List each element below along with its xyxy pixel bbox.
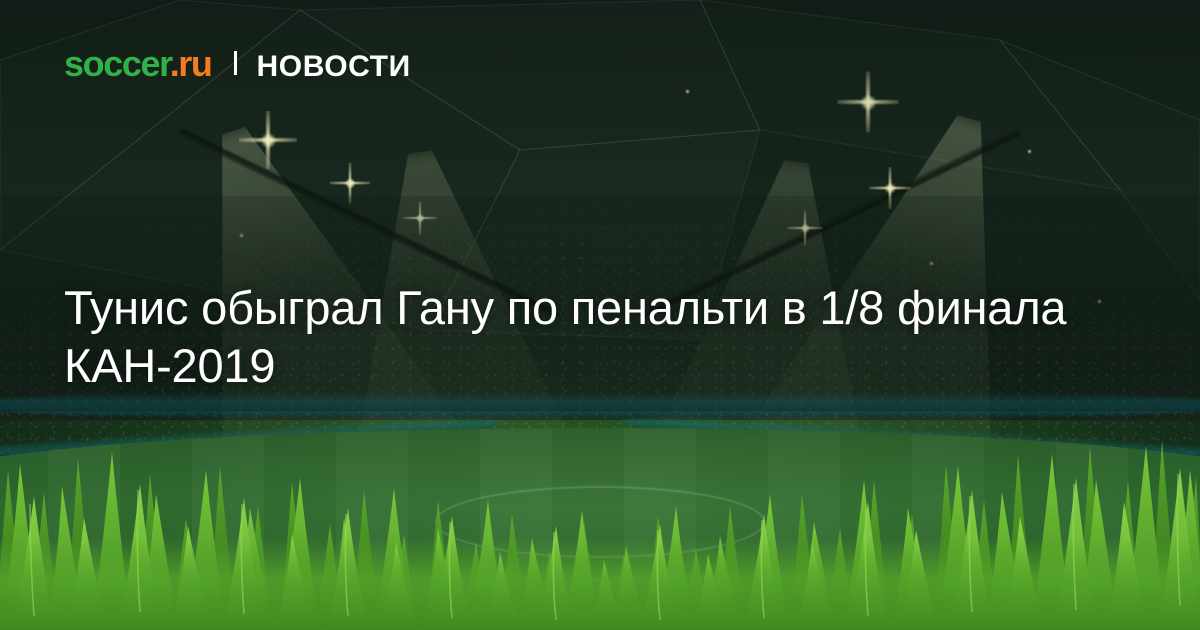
- logo-text-soccer: soccer: [64, 43, 170, 84]
- floodlight-lamp: [255, 127, 281, 153]
- article-headline: Тунис обыграл Гану по пенальти в 1/8 фин…: [64, 279, 1124, 395]
- site-logo[interactable]: soccer.ru: [64, 46, 212, 82]
- light-sparkle: [1028, 150, 1031, 153]
- section-label-news: НОВОСТИ: [257, 52, 411, 82]
- foreground-grass: [0, 430, 1200, 630]
- floodlight-lamp: [341, 174, 359, 192]
- logo-text-ru: .ru: [170, 43, 212, 84]
- header-separator: [234, 51, 237, 75]
- header: soccer.ru НОВОСТИ: [64, 46, 411, 82]
- floodlight-lamp: [881, 179, 900, 198]
- floodlight-lamp: [854, 88, 881, 115]
- light-sparkle: [686, 90, 689, 93]
- news-share-card: soccer.ru НОВОСТИ Тунис обыграл Гану по …: [0, 0, 1200, 630]
